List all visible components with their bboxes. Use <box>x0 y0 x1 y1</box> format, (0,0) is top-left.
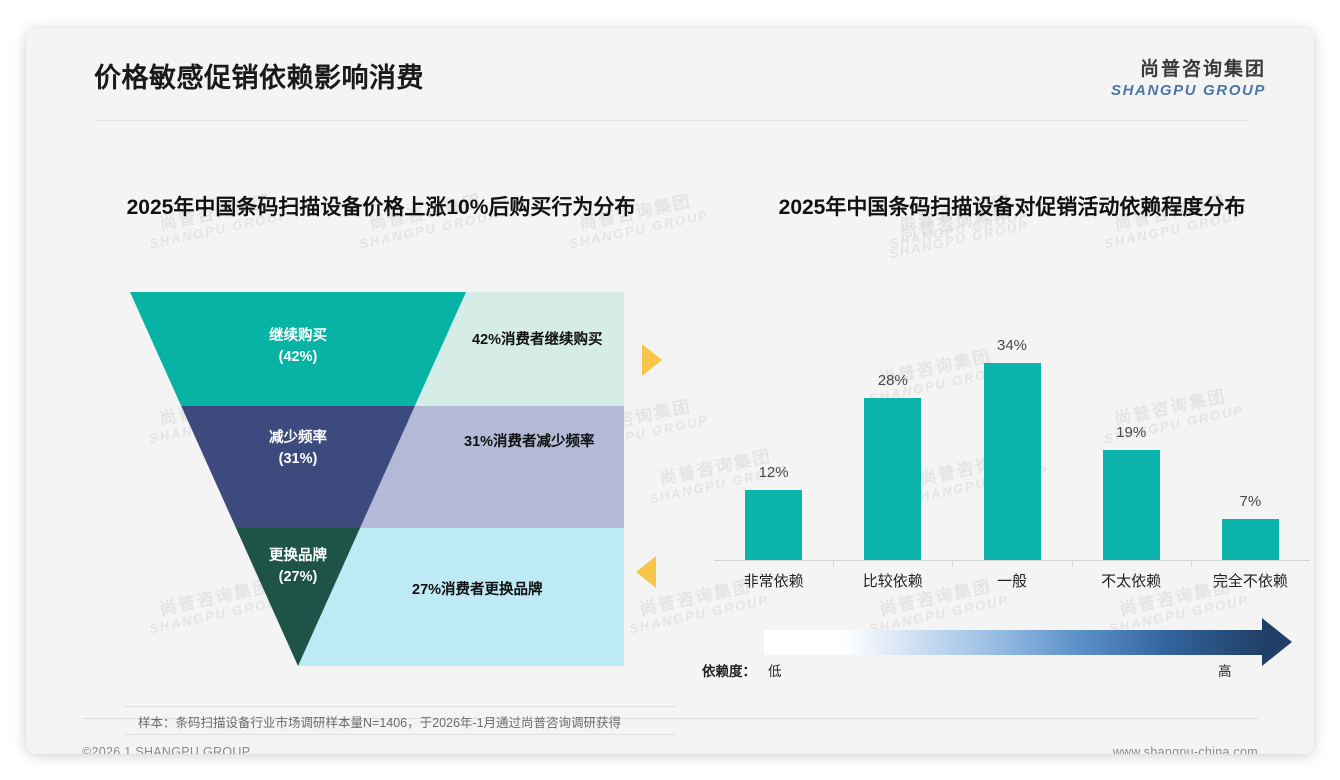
play-left-triangle-icon <box>636 556 656 588</box>
legend-caption: 依赖度： <box>702 660 756 680</box>
slide-card: 尚普咨询集团SHANGPU GROUP尚普咨询集团SHANGPU GROUP尚普… <box>26 28 1314 754</box>
bar-value-label: 7% <box>1190 493 1310 510</box>
sample-footnote: 样本：条码扫描设备行业市场调研样本量N=1406，于2026年-1月通过尚普咨询… <box>138 712 621 731</box>
bar-column[interactable] <box>864 398 921 560</box>
bar-rect <box>984 363 1041 560</box>
brand-logo: 尚普咨询集团 SHANGPU GROUP <box>1111 54 1266 99</box>
funnel-side-label: 42%消费者继续购买 <box>472 328 603 349</box>
gradient-bar <box>764 630 1264 655</box>
funnel-side-label: 27%消费者更换品牌 <box>412 578 543 599</box>
x-axis-tick <box>952 560 953 567</box>
logo-chinese-text: 尚普咨询集团 <box>1111 54 1266 81</box>
dependency-bar-chart: 12%非常依赖28%比较依赖34%一般19%不太依赖7%完全不依赖 <box>702 278 1314 608</box>
bar-column[interactable] <box>1103 450 1160 560</box>
footnote-divider-top <box>124 706 676 707</box>
dependency-gradient-legend: 依赖度： 低 高 <box>702 616 1314 686</box>
gradient-arrow-icon <box>1262 618 1292 666</box>
page-title: 价格敏感促销依赖影响消费 <box>94 56 424 95</box>
bar-value-label: 28% <box>833 372 953 389</box>
bar-category-label: 非常依赖 <box>714 570 834 591</box>
footnote-divider-bottom <box>124 734 676 735</box>
bar-rect <box>1222 519 1279 560</box>
left-chart-title: 2025年中国条码扫描设备价格上涨10%后购买行为分布 <box>66 194 696 222</box>
x-axis-tick <box>1072 560 1073 567</box>
bar-column[interactable] <box>1222 519 1279 560</box>
bar-value-label: 19% <box>1071 424 1191 441</box>
funnel-band <box>130 292 466 406</box>
bar-category-label: 不太依赖 <box>1071 570 1191 591</box>
play-right-triangle-icon <box>642 344 662 376</box>
x-axis-tick <box>1191 560 1192 567</box>
legend-high-label: 高 <box>1218 660 1232 680</box>
footer-copyright: ©2026.1 SHANGPU GROUP <box>82 745 250 754</box>
logo-english-text: SHANGPU GROUP <box>1111 82 1266 99</box>
bar-column[interactable] <box>745 490 802 560</box>
bar-category-label: 完全不依赖 <box>1190 570 1310 591</box>
x-axis-line <box>714 560 1310 561</box>
bar-rect <box>864 398 921 560</box>
bar-category-label: 比较依赖 <box>833 570 953 591</box>
bar-rect <box>1103 450 1160 560</box>
legend-low-label: 低 <box>768 660 782 680</box>
bar-value-label: 12% <box>714 464 834 481</box>
bar-column[interactable] <box>984 363 1041 560</box>
footer-website[interactable]: www.shangpu-china.com <box>1113 745 1258 754</box>
bar-value-label: 34% <box>952 337 1072 354</box>
bar-rect <box>745 490 802 560</box>
funnel-chart: 继续购买 (42%)减少频率 (31%)更换品牌 (27%)42%消费者继续购买… <box>26 278 686 678</box>
x-axis-tick <box>833 560 834 567</box>
bar-category-label: 一般 <box>952 570 1072 591</box>
header-divider <box>96 120 1248 121</box>
right-chart-title: 2025年中国条码扫描设备对促销活动依赖程度分布 <box>702 194 1314 222</box>
funnel-side-label: 31%消费者减少频率 <box>464 430 595 451</box>
slide-header: 价格敏感促销依赖影响消费 尚普咨询集团 SHANGPU GROUP <box>26 28 1314 124</box>
